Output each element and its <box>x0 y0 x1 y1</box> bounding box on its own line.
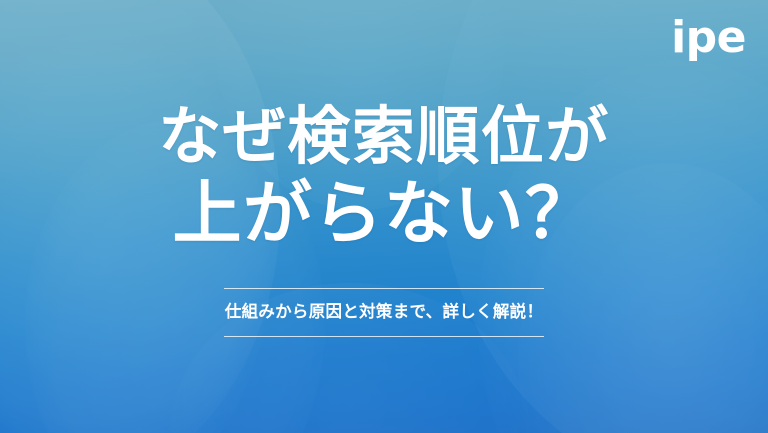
subtitle-rule-bottom <box>224 336 544 337</box>
subtitle-block: 仕組みから原因と対策まで、詳しく解説！ <box>224 288 544 337</box>
subtitle-text: 仕組みから原因と対策まで、詳しく解説！ <box>224 289 544 336</box>
page-title-line-2: 上がらない？ <box>173 174 596 254</box>
article-thumbnail-banner: ipe なぜ検索順位が 上がらない？ 仕組みから原因と対策まで、詳しく解説！ <box>0 0 768 433</box>
page-title-line-1: なぜ検索順位が <box>158 100 610 174</box>
banner-content: なぜ検索順位が 上がらない？ 仕組みから原因と対策まで、詳しく解説！ <box>0 0 768 433</box>
